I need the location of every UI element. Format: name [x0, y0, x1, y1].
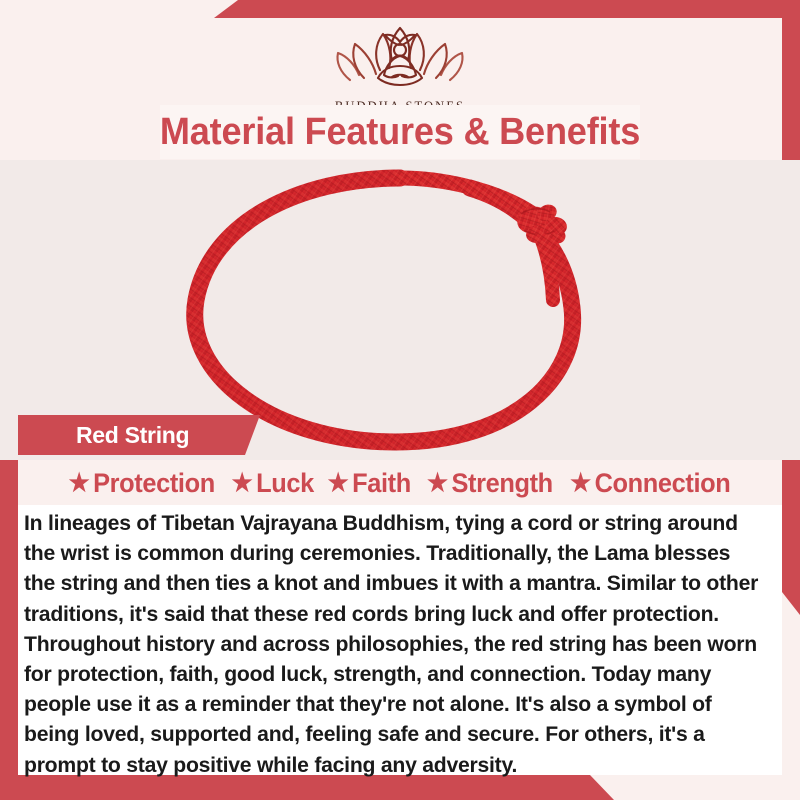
lotus-meditation-icon	[0, 20, 800, 97]
description-text: In lineages of Tibetan Vajrayana Buddhis…	[24, 508, 765, 780]
feature-label: Strength	[451, 468, 552, 499]
feature-item-strength: ★ Strength	[427, 468, 553, 499]
page-title: Material Features & Benefits	[20, 103, 780, 161]
feature-item-faith: ★ Faith	[328, 468, 411, 499]
decorative-top-bar	[0, 0, 800, 18]
product-name-label: Red String	[18, 415, 245, 455]
feature-item-protection: ★ Protection	[69, 468, 215, 499]
feature-label: Faith	[352, 468, 411, 499]
feature-label: Connection	[595, 468, 731, 499]
star-icon: ★	[231, 471, 252, 496]
feature-item-luck: ★ Luck	[231, 468, 313, 499]
star-icon: ★	[571, 471, 592, 496]
brand-block: BUDDHA STONES	[0, 20, 800, 114]
star-icon: ★	[427, 471, 448, 496]
star-icon: ★	[69, 471, 90, 496]
feature-label: Protection	[93, 468, 215, 499]
star-icon: ★	[328, 471, 349, 496]
feature-list: ★ Protection ★ Luck ★ Faith ★ Strength ★…	[18, 463, 782, 503]
feature-label: Luck	[256, 468, 314, 499]
poster-canvas: BUDDHA STONES Material Features & Benefi…	[0, 0, 800, 800]
feature-item-connection: ★ Connection	[571, 468, 731, 499]
